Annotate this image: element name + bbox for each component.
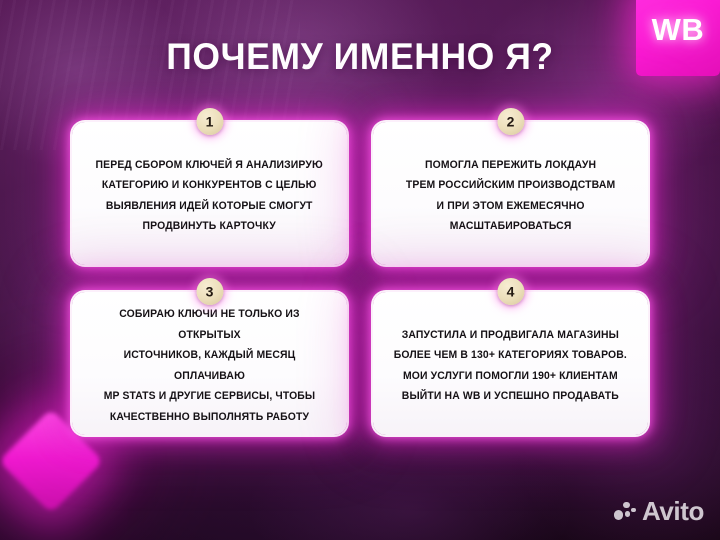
avito-watermark: Avito	[614, 498, 704, 524]
card-number-badge-4: 4	[497, 278, 524, 305]
feature-card-2[interactable]: ПОМОГЛА ПЕРЕЖИТЬ ЛОКДАУН ТРЕМ РОССИЙСКИМ…	[373, 122, 648, 265]
card-number-badge-3: 3	[196, 278, 223, 305]
feature-card-2-wrapper: 2 ПОМОГЛА ПЕРЕЖИТЬ ЛОКДАУН ТРЕМ РОССИЙСК…	[373, 122, 648, 265]
avito-watermark-text: Avito	[642, 498, 704, 524]
page-title: ПОЧЕМУ ИМЕННО Я?	[14, 36, 705, 78]
avito-dots-icon	[614, 502, 636, 521]
card-number-2: 2	[507, 114, 515, 128]
feature-card-4-wrapper: 4 ЗАПУСТИЛА И ПРОДВИГАЛА МАГАЗИНЫ БОЛЕЕ …	[373, 292, 648, 435]
card-number-badge-2: 2	[497, 108, 524, 135]
feature-card-1-text: ПЕРЕД СБОРОМ КЛЮЧЕЙ Я АНАЛИЗИРУЮ КАТЕГОР…	[96, 155, 323, 237]
card-number-3: 3	[206, 284, 214, 298]
feature-card-grid: 1 ПЕРЕД СБОРОМ КЛЮЧЕЙ Я АНАЛИЗИРУЮ КАТЕГ…	[72, 122, 648, 435]
card-number-4: 4	[507, 284, 515, 298]
feature-card-3-text: СОБИРАЮ КЛЮЧИ НЕ ТОЛЬКО ИЗ ОТКРЫТЫХ ИСТО…	[93, 304, 326, 427]
card-number-badge-1: 1	[196, 108, 223, 135]
feature-card-1[interactable]: ПЕРЕД СБОРОМ КЛЮЧЕЙ Я АНАЛИЗИРУЮ КАТЕГОР…	[72, 122, 347, 265]
card-number-1: 1	[206, 114, 214, 128]
feature-card-2-text: ПОМОГЛА ПЕРЕЖИТЬ ЛОКДАУН ТРЕМ РОССИЙСКИМ…	[406, 155, 615, 237]
feature-card-4[interactable]: ЗАПУСТИЛА И ПРОДВИГАЛА МАГАЗИНЫ БОЛЕЕ ЧЕ…	[373, 292, 648, 435]
feature-card-3-wrapper: 3 СОБИРАЮ КЛЮЧИ НЕ ТОЛЬКО ИЗ ОТКРЫТЫХ ИС…	[72, 292, 347, 435]
feature-card-3[interactable]: СОБИРАЮ КЛЮЧИ НЕ ТОЛЬКО ИЗ ОТКРЫТЫХ ИСТО…	[72, 292, 347, 435]
feature-card-1-wrapper: 1 ПЕРЕД СБОРОМ КЛЮЧЕЙ Я АНАЛИЗИРУЮ КАТЕГ…	[72, 122, 347, 265]
slide-canvas: WB ПОЧЕМУ ИМЕННО Я? 1 ПЕРЕД СБОРОМ КЛЮЧЕ…	[0, 0, 720, 540]
background-glow-f	[250, 430, 570, 540]
feature-card-4-text: ЗАПУСТИЛА И ПРОДВИГАЛА МАГАЗИНЫ БОЛЕЕ ЧЕ…	[394, 325, 627, 407]
